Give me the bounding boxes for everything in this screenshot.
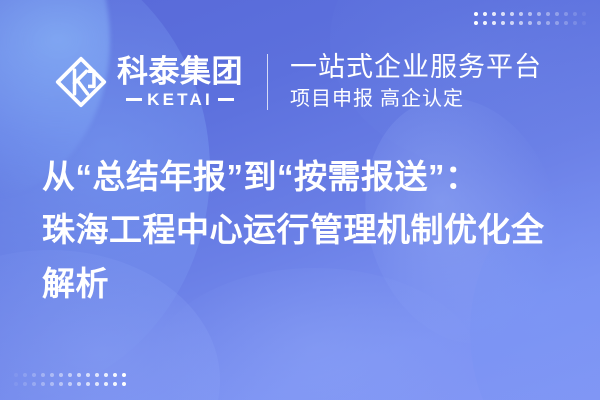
dot [14,373,18,377]
dot-row [474,21,586,25]
dot [50,382,54,386]
promotional-banner: 科泰集团 KETAI 一站式企业服务平台 项目申报 高企认定 从“总结年报”到“… [0,0,600,400]
brand-rule-left [126,98,142,101]
brand-name-cn: 科泰集团 [117,56,243,88]
page-title-line: 解析 [42,257,572,310]
dot [41,382,45,386]
dot-row [14,382,126,386]
dot [77,373,81,377]
dot [50,373,54,377]
tagline-block: 一站式企业服务平台 项目申报 高企认定 [290,52,542,112]
brand-name-en-row: KETAI [126,91,234,108]
dot [582,21,586,25]
dot [23,382,27,386]
dot [95,382,99,386]
dot [564,21,568,25]
banner-header: 科泰集团 KETAI 一站式企业服务平台 项目申报 高企认定 [0,42,600,122]
dot [68,382,72,386]
dot [519,12,523,16]
dot [77,382,81,386]
dot [528,21,532,25]
dot [546,12,550,16]
page-title-line: 从“总结年报”到“按需报送”： [42,150,572,203]
brand-rule-right [218,98,234,101]
tagline-secondary: 项目申报 高企认定 [290,86,542,112]
dot [113,373,117,377]
dot [59,382,63,386]
tagline-primary: 一站式企业服务平台 [290,52,542,84]
dot [483,12,487,16]
page-title: 从“总结年报”到“按需报送”： 珠海工程中心运行管理机制优化全 解析 [42,150,572,310]
dot [564,12,568,16]
dot-grid-top-right [474,12,586,25]
dot-row [14,373,126,377]
dot [122,373,126,377]
dot [501,12,505,16]
dot [14,382,18,386]
brand-wordmark: 科泰集团 KETAI [117,56,243,108]
dot [483,21,487,25]
dot [122,382,126,386]
dot [41,373,45,377]
dot [573,21,577,25]
header-divider [267,54,268,110]
dot [555,21,559,25]
dot [32,382,36,386]
dot [510,12,514,16]
dot [86,373,90,377]
dot [32,373,36,377]
dot-grid-bottom-left [14,373,126,386]
dot [582,12,586,16]
dot [59,373,63,377]
dot [537,12,541,16]
dot [104,373,108,377]
dot [492,21,496,25]
dot [555,12,559,16]
dot [23,373,27,377]
dot [537,21,541,25]
dot [95,373,99,377]
page-title-line: 珠海工程中心运行管理机制优化全 [42,203,572,256]
dot [104,382,108,386]
dot [86,382,90,386]
dot [573,12,577,16]
dot-row [474,12,586,16]
dot [113,382,117,386]
dot [546,21,550,25]
dot [474,21,478,25]
dot [474,12,478,16]
dot [492,12,496,16]
dot [501,21,505,25]
brand-name-en: KETAI [147,91,213,108]
dot [519,21,523,25]
dot [528,12,532,16]
dot [510,21,514,25]
dot [68,373,72,377]
ketai-diamond-kd-logo-icon [54,55,108,109]
brand-lockup[interactable]: 科泰集团 KETAI [54,55,243,109]
